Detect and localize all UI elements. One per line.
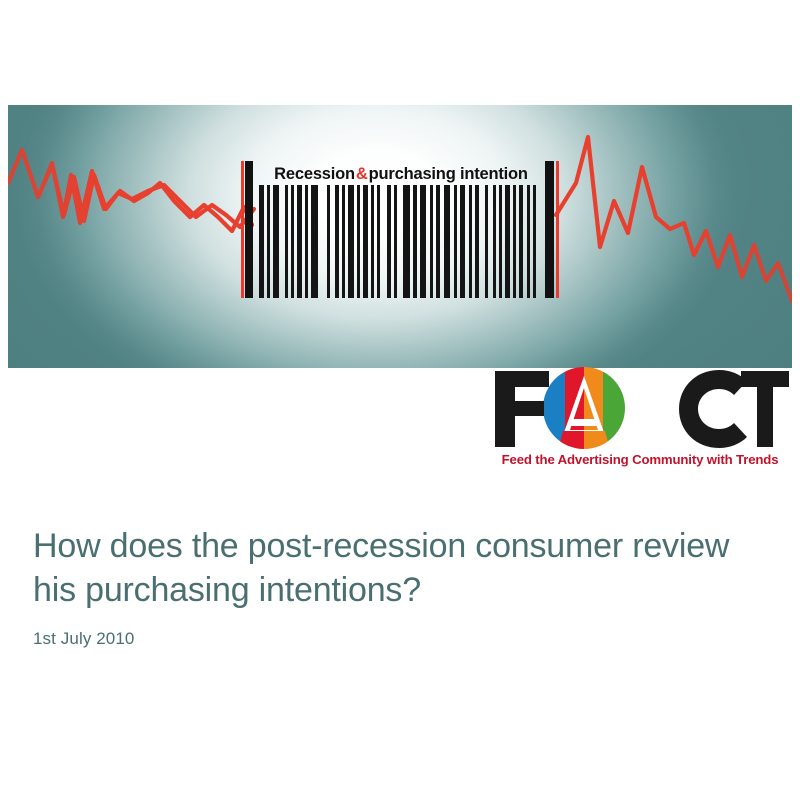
barcode-guard-bar-right [545, 161, 554, 298]
barcode-bar [499, 185, 502, 298]
hero-banner-image: Recession & purchasing intention [8, 105, 792, 368]
fact-emblem-circle [543, 367, 627, 450]
barcode-bar [420, 185, 426, 298]
barcode-bar [527, 185, 530, 298]
slide-date: 1st July 2010 [33, 629, 134, 649]
barcode-bar [403, 185, 410, 298]
barcode-label: Recession & purchasing intention [259, 161, 543, 188]
barcode-bar [469, 185, 472, 298]
barcode-bar [305, 185, 308, 298]
barcode-bar [297, 185, 302, 298]
barcode-bar [267, 185, 270, 298]
page-title: How does the post-recession consumer rev… [33, 524, 763, 612]
fact-wordmark [489, 367, 789, 450]
barcode-bar [348, 185, 354, 298]
barcode-bar [485, 185, 488, 298]
barcode-bar [387, 185, 391, 298]
fact-letter-f [495, 371, 549, 447]
barcode-bar [357, 185, 360, 298]
barcode-bar [285, 185, 288, 298]
barcode-bar [413, 185, 417, 298]
barcode-bar [493, 185, 496, 298]
barcode-bar [533, 185, 536, 298]
barcode-bar [475, 185, 479, 298]
emblem-segment-green [603, 367, 627, 449]
chart-series-left-2 [8, 150, 252, 231]
barcode-bar [371, 185, 374, 298]
barcode-edge-line-left [241, 161, 244, 298]
barcode-bar [342, 185, 345, 298]
barcode-bar [377, 185, 380, 298]
barcode-bar [363, 185, 368, 298]
fact-tagline: Feed the Advertising Community with Tren… [491, 452, 789, 467]
barcode-bar [436, 185, 440, 298]
barcode-graphic: Recession & purchasing intention [241, 161, 559, 298]
barcode-bar [444, 185, 450, 298]
barcode-bar [513, 185, 516, 298]
barcode-bar [291, 185, 294, 298]
barcode-bar [430, 185, 433, 298]
barcode-bar [259, 185, 264, 298]
barcode-bar [335, 185, 339, 298]
chart-series-right [556, 137, 792, 301]
barcode-label-before: Recession [274, 165, 355, 184]
barcode-bar [394, 185, 397, 298]
barcode-bar [273, 185, 279, 298]
barcode-bars [241, 185, 559, 298]
fact-letter-c [679, 370, 747, 448]
barcode-bar [311, 185, 318, 298]
barcode-bar [327, 185, 330, 298]
barcode-bar [519, 185, 523, 298]
barcode-guard-bar-left [245, 161, 253, 298]
barcode-label-ampersand: & [355, 165, 369, 184]
barcode-label-after: purchasing intention [369, 165, 528, 184]
fact-logo: Feed the Advertising Community with Tren… [489, 367, 789, 479]
barcode-bar [454, 185, 457, 298]
barcode-bar [505, 185, 510, 298]
barcode-edge-line-right [556, 161, 559, 298]
emblem-a-crossbar [569, 419, 599, 426]
fact-letter-t [741, 371, 789, 447]
barcode-bar [460, 185, 465, 298]
